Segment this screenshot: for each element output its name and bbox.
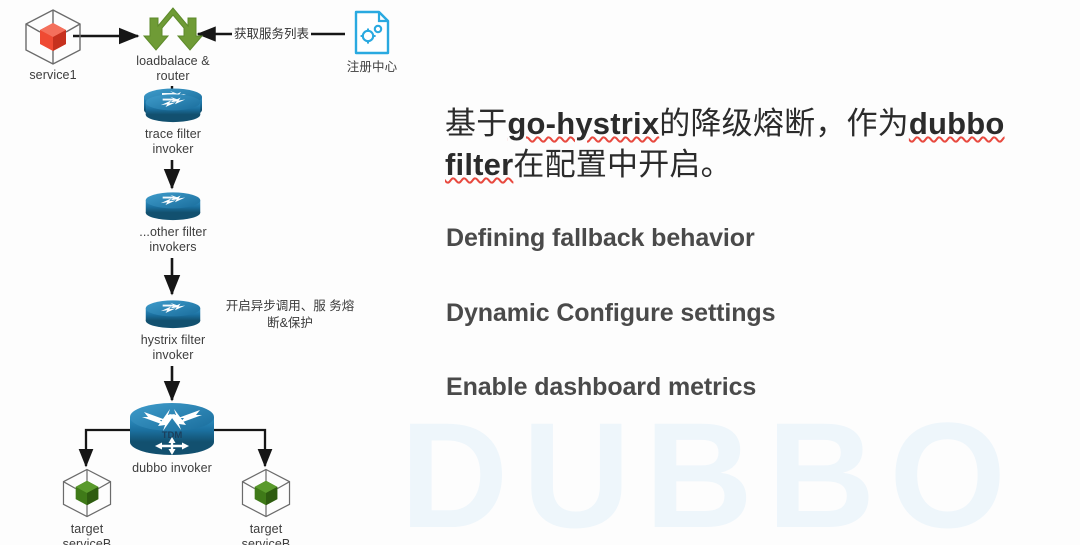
green-split-arrow-icon	[142, 6, 204, 52]
headline-suffix: 在配置中开启。	[513, 147, 731, 182]
green-cube-icon	[58, 466, 116, 520]
node-label: 注册中心	[334, 60, 410, 75]
slide-canvas: DUBBO	[0, 0, 1080, 545]
node-service1[interactable]: service1	[14, 6, 92, 83]
headline: 基于go-hystrix的降级熔断，作为dubbo filter在配置中开启。	[445, 103, 1080, 185]
node-hystrix-filter-invoker[interactable]: hystrix filter invoker	[128, 298, 218, 363]
router-icon	[142, 298, 204, 330]
node-label: target serviceB	[229, 522, 303, 545]
registry-gear-document-icon	[352, 10, 392, 56]
node-label: hystrix filter invoker	[128, 333, 218, 363]
router-icon	[142, 92, 204, 124]
node-registry[interactable]: 注册中心	[334, 10, 410, 75]
node-other-filter-invokers[interactable]: ...other filter invokers	[128, 190, 218, 255]
node-trace-filter-invoker[interactable]: trace filter invoker	[128, 92, 218, 157]
headline-prefix: 基于	[445, 106, 507, 141]
big-router-icon: TDM	[124, 398, 220, 460]
node-dubbo-invoker[interactable]: TDM dubbo invoker	[112, 398, 232, 476]
green-cube-icon	[237, 466, 295, 520]
annotation-hystrix-note: 开启异步调用、服 务熔断&保护	[225, 298, 355, 332]
node-label: trace filter invoker	[128, 127, 218, 157]
node-label: loadbalace & router	[118, 54, 228, 84]
headline-middle: 的降级熔断，作为	[659, 106, 909, 141]
bullet-item-0: Defining fallback behavior	[446, 224, 755, 253]
node-target-serviceb-right[interactable]: target serviceB	[229, 466, 303, 545]
node-label: dubbo invoker	[112, 461, 232, 476]
headline-term-go-hystrix: go-hystrix	[507, 106, 659, 141]
router-icon	[142, 190, 204, 222]
content-panel: 基于go-hystrix的降级熔断，作为dubbo filter在配置中开启。 …	[443, 0, 1080, 545]
node-label: service1	[14, 68, 92, 83]
node-label: ...other filter invokers	[128, 225, 218, 255]
bullet-item-1: Dynamic Configure settings	[446, 299, 775, 328]
red-cube-icon	[20, 6, 86, 68]
node-label: target serviceB	[50, 522, 124, 545]
edge-label-fetch-service-list: 获取服务列表	[232, 23, 311, 42]
bullet-item-2: Enable dashboard metrics	[446, 373, 756, 402]
node-target-serviceb-left[interactable]: target serviceB	[50, 466, 124, 545]
architecture-diagram: service1 loadbalace & router	[0, 0, 420, 545]
